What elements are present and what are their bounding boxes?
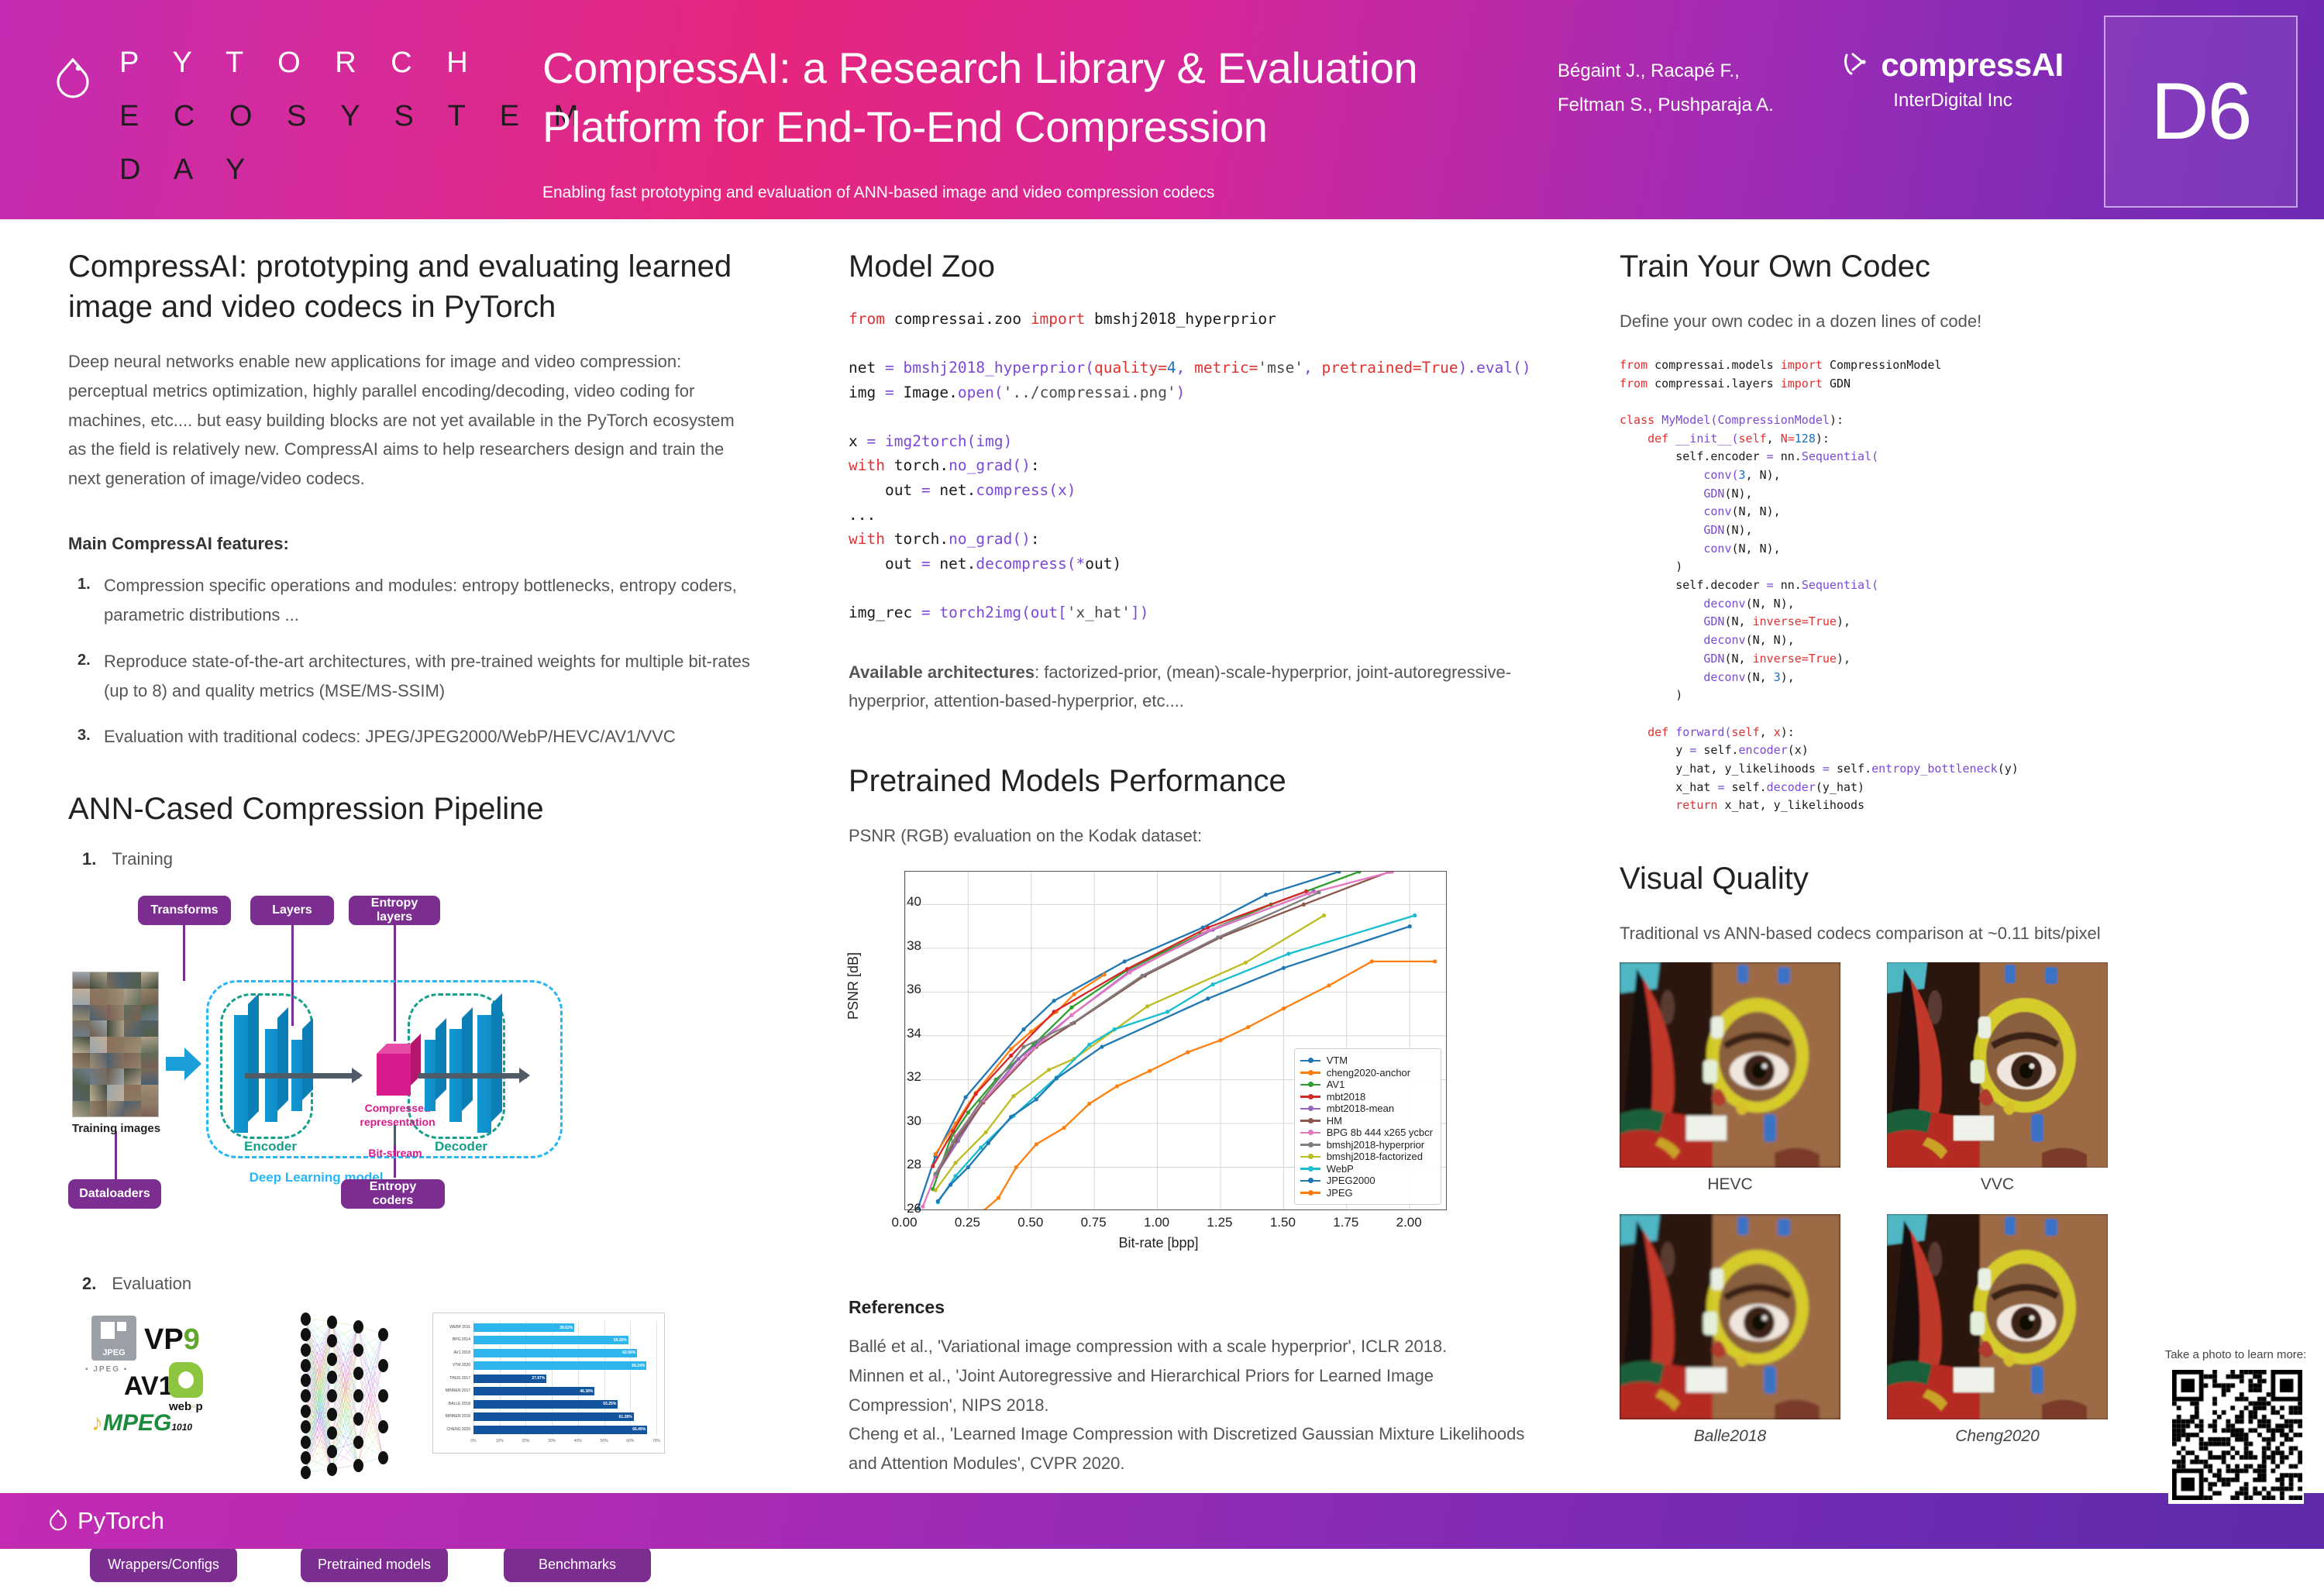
column-two: Model Zoo from compressai.zoo import bms…	[849, 246, 1546, 1478]
button-wrappers-configs[interactable]: Wrappers/Configs	[90, 1547, 237, 1582]
model-zoo-code-block: from compressai.zoo import bmshj2018_hyp…	[849, 307, 1546, 625]
column-three: Train Your Own Codec Define your own cod…	[1620, 246, 2216, 1446]
pipeline-box-layers: Layers	[250, 896, 334, 925]
poster-subtitle: Enabling fast prototyping and evaluation…	[542, 184, 1472, 202]
decoder-label: Decoder	[418, 1139, 504, 1154]
step-evaluation: 2.Evaluation	[68, 1274, 750, 1294]
poster-number-badge: D6	[2104, 15, 2298, 208]
legend-label: bmshj2018-factorized	[1327, 1151, 1423, 1162]
legend-swatch	[1300, 1168, 1320, 1170]
feature-item: Evaluation with traditional codecs: JPEG…	[68, 722, 750, 752]
vq-cell-cheng2020: Cheng2020	[1887, 1214, 2108, 1446]
legend-swatch	[1300, 1192, 1320, 1194]
vq-caption-vvc: VVC	[1887, 1175, 2108, 1194]
visual-quality-heading: Visual Quality	[1620, 858, 2216, 899]
benchmark-bar-chart: 0%10%20%30%40%50%60%70%WEBP 201138.62%BP…	[432, 1313, 665, 1454]
legend-label: JPEG	[1327, 1187, 1353, 1199]
legend-item: WebP	[1300, 1163, 1433, 1175]
visual-quality-subtitle: Traditional vs ANN-based codecs comparis…	[1620, 919, 2216, 948]
pipeline-box-dataloaders: Dataloaders	[68, 1179, 161, 1209]
qr-instruction: Take a photo to learn more:	[2162, 1348, 2309, 1361]
ped-line-2: E C O S Y S T E M	[119, 100, 591, 133]
org-sub: InterDigital Inc	[1837, 90, 2069, 112]
vq-image-cheng2020	[1887, 1214, 2108, 1419]
bitstream-arrow	[394, 1125, 396, 1145]
train-codec-subtitle: Define your own codec in a dozen lines o…	[1620, 307, 2216, 336]
vq-caption-cheng2020: Cheng2020	[1887, 1427, 2108, 1446]
vq-image-hevc	[1620, 962, 1840, 1168]
vq-image-vvc	[1887, 962, 2108, 1168]
reference-item: Cheng et al., 'Learned Image Compression…	[849, 1419, 1546, 1478]
legend-swatch	[1300, 1084, 1320, 1086]
legend-label: mbt2018-mean	[1327, 1103, 1394, 1114]
pipeline-box-transforms: Transforms	[138, 896, 231, 925]
performance-subtitle: PSNR (RGB) evaluation on the Kodak datas…	[849, 821, 1546, 851]
features-list: Compression specific operations and modu…	[68, 571, 750, 752]
chart-legend: VTMcheng2020-anchorAV1mbt2018mbt2018-mea…	[1294, 1048, 1441, 1205]
feature-item: Reproduce state-of-the-art architectures…	[68, 647, 750, 706]
pytorch-flame-icon	[54, 57, 91, 102]
vq-image-balle2018	[1620, 1214, 1840, 1419]
pytorch-flame-icon	[48, 1509, 68, 1533]
model-zoo-heading: Model Zoo	[849, 246, 1546, 287]
step-1-number: 1.	[82, 849, 96, 869]
legend-item: bmshj2018-factorized	[1300, 1151, 1433, 1163]
step-2-label: Evaluation	[112, 1274, 191, 1293]
authors: Bégaint J., Racapé F., Feltman S., Pushp…	[1558, 54, 1774, 123]
train-codec-heading: Train Your Own Codec	[1620, 246, 2216, 287]
legend-item: JPEG2000	[1300, 1175, 1433, 1187]
encoder-label: Encoder	[228, 1139, 313, 1154]
legend-swatch	[1300, 1132, 1320, 1134]
column-one: CompressAI: prototyping and evaluating l…	[68, 246, 750, 1593]
feature-item: Compression specific operations and modu…	[68, 571, 750, 630]
psnr-chart: VTMcheng2020-anchorAV1mbt2018mbt2018-mea…	[849, 865, 1468, 1260]
vp9-icon: VP9	[144, 1323, 200, 1357]
bitstream-label: Bit-stream	[364, 1147, 426, 1159]
legend-swatch	[1300, 1144, 1320, 1146]
vq-cell-vvc: VVC	[1887, 962, 2108, 1194]
evaluation-buttons-row: Wrappers/Configs Pretrained models Bench…	[68, 1547, 750, 1593]
pytorch-ecosystem-day-logo: P Y T O R C H E C O S Y S T E M D A Y	[54, 46, 591, 187]
av1-icon: AV1	[124, 1371, 174, 1402]
authors-line-2: Feltman S., Pushparaja A.	[1558, 88, 1774, 122]
title-block: CompressAI: a Research Library & Evaluat…	[542, 39, 1472, 202]
training-images-thumbnail	[72, 972, 159, 1117]
organization-block: compressAI InterDigital Inc	[1837, 46, 2069, 112]
footer-pytorch-logo: PyTorch	[48, 1507, 164, 1535]
chart-x-label: Bit-rate [bpp]	[849, 1235, 1468, 1251]
codec-logos-group: JPEG ▪ JPEG ▪ VP9 AV1 web◦p ♪MPEG1010	[84, 1311, 262, 1450]
webp-icon: web◦p	[169, 1362, 203, 1413]
compressai-mark-icon	[1842, 51, 1873, 79]
legend-swatch	[1300, 1120, 1320, 1122]
footer-logo-text: PyTorch	[77, 1507, 164, 1535]
poster-title: CompressAI: a Research Library & Evaluat…	[542, 39, 1472, 156]
compressai-logo: compressAI	[1837, 46, 2069, 84]
legend-label: WebP	[1327, 1163, 1354, 1175]
architectures-label: Available architectures	[849, 662, 1035, 682]
chart-y-label: PSNR [dB]	[845, 952, 862, 1020]
legend-item: cheng2020-anchor	[1300, 1067, 1433, 1079]
qr-block: Take a photo to learn more:	[2162, 1348, 2309, 1504]
button-pretrained-models[interactable]: Pretrained models	[301, 1547, 448, 1582]
ped-line-1: P Y T O R C H	[119, 46, 591, 80]
pipeline-box-entropy-coders: Entropy coders	[341, 1179, 445, 1209]
connector-dataloaders	[115, 1131, 117, 1179]
legend-item: mbt2018-mean	[1300, 1103, 1433, 1115]
vq-cell-hevc: HEVC	[1620, 962, 1840, 1194]
pipeline-heading: ANN-Cased Compression Pipeline	[68, 789, 750, 829]
col1-heading: CompressAI: prototyping and evaluating l…	[68, 246, 750, 327]
connector-transforms	[183, 925, 185, 981]
legend-label: HM	[1327, 1115, 1342, 1127]
pipeline-diagram: Transforms Layers Entropy layers Trainin…	[68, 876, 750, 1240]
vq-caption-balle2018: Balle2018	[1620, 1427, 1840, 1446]
chart-plot-area: VTMcheng2020-anchorAV1mbt2018mbt2018-mea…	[904, 871, 1447, 1210]
training-images-caption: Training images	[62, 1122, 170, 1135]
ped-line-3: D A Y	[119, 153, 591, 187]
mpeg-icon: ♪MPEG1010	[91, 1410, 192, 1436]
performance-heading: Pretrained Models Performance	[849, 761, 1546, 801]
legend-label: mbt2018	[1327, 1091, 1366, 1103]
org-name: compressAI	[1881, 46, 2063, 84]
poster-header: P Y T O R C H E C O S Y S T E M D A Y Co…	[0, 0, 2324, 219]
jpeg-icon: JPEG	[91, 1316, 136, 1361]
legend-item: VTM	[1300, 1055, 1433, 1067]
legend-swatch	[1300, 1108, 1320, 1110]
reference-item: Minnen et al., 'Joint Autoregressive and…	[849, 1361, 1546, 1420]
legend-swatch	[1300, 1156, 1320, 1158]
input-arrow-icon	[166, 1048, 201, 1084]
authors-line-1: Bégaint J., Racapé F.,	[1558, 54, 1774, 88]
legend-label: AV1	[1327, 1079, 1345, 1090]
visual-quality-grid: HEVC VVC Balle2018 Cheng2020	[1620, 962, 2216, 1446]
col1-intro: Deep neural networks enable new applicat…	[68, 347, 750, 494]
train-codec-code-block: from compressai.models import Compressio…	[1620, 356, 2216, 815]
decoder-flow-arrow	[418, 1073, 527, 1079]
legend-item: HM	[1300, 1115, 1433, 1127]
legend-swatch	[1300, 1180, 1320, 1182]
legend-swatch	[1300, 1060, 1320, 1062]
poster-footer: PyTorch	[0, 1493, 2324, 1549]
qr-code[interactable]	[2168, 1366, 2304, 1504]
references-heading: References	[849, 1297, 1546, 1318]
legend-label: cheng2020-anchor	[1327, 1067, 1410, 1079]
pipeline-box-entropy-layers: Entropy layers	[349, 896, 440, 925]
compressed-representation-cube	[377, 1054, 411, 1096]
vq-caption-hevc: HEVC	[1620, 1175, 1840, 1194]
vq-cell-balle2018: Balle2018	[1620, 1214, 1840, 1446]
encoder-flow-arrow	[245, 1073, 360, 1079]
legend-item: AV1	[1300, 1079, 1433, 1091]
legend-item: bmshj2018-hyperprior	[1300, 1139, 1433, 1151]
legend-item: JPEG	[1300, 1187, 1433, 1199]
legend-swatch	[1300, 1096, 1320, 1098]
reference-item: Ballé et al., 'Variational image compres…	[849, 1332, 1546, 1361]
legend-item: mbt2018	[1300, 1091, 1433, 1103]
legend-swatch	[1300, 1072, 1320, 1074]
legend-label: BPG 8b 444 x265 ycbcr	[1327, 1127, 1433, 1138]
step-2-number: 2.	[82, 1274, 96, 1293]
legend-label: JPEG2000	[1327, 1175, 1375, 1186]
step-training: 1.Training	[68, 849, 750, 869]
available-architectures: Available architectures: factorized-prio…	[849, 658, 1546, 717]
legend-label: VTM	[1327, 1055, 1348, 1066]
legend-label: bmshj2018-hyperprior	[1327, 1139, 1424, 1151]
step-1-label: Training	[112, 849, 173, 869]
button-benchmarks[interactable]: Benchmarks	[504, 1547, 651, 1582]
neural-network-illustration	[301, 1303, 409, 1489]
legend-item: BPG 8b 444 x265 ycbcr	[1300, 1127, 1433, 1139]
features-lead: Main CompressAI features:	[68, 534, 750, 554]
